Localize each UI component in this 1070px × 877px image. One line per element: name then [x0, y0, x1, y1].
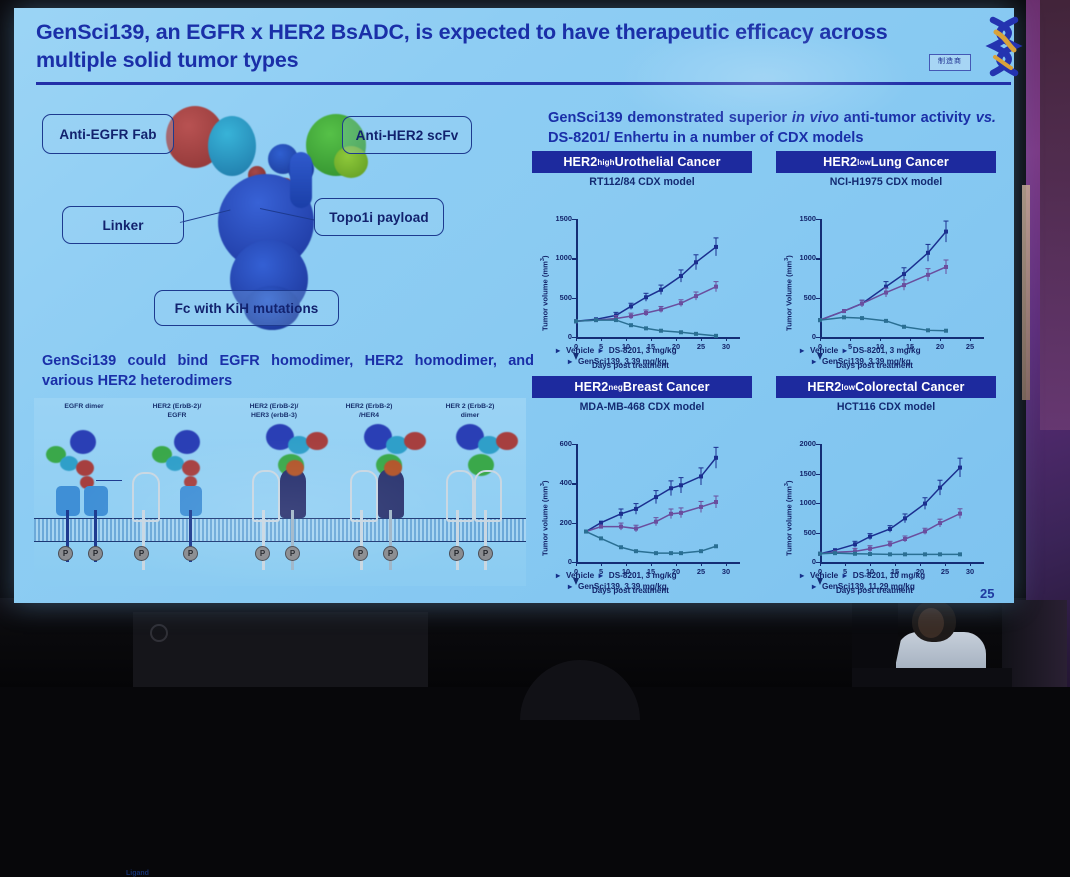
data-marker	[903, 516, 907, 520]
chart-legend-row1: ▸Vehicle ▸DS-8201, 3 mg/kg	[556, 570, 677, 580]
data-marker	[714, 456, 718, 460]
data-marker	[923, 502, 927, 506]
logo-badge-text: 制造商	[929, 54, 971, 71]
dimer-label-2: HER2 (ErbB-2)/HER3 (erbB-3)	[226, 402, 322, 420]
data-marker	[669, 551, 673, 555]
callout-anti-egfr-fab[interactable]: Anti-EGFR Fab	[42, 114, 174, 154]
data-marker	[714, 334, 718, 338]
data-marker	[818, 552, 822, 556]
chart-title-2: HER2neg Breast Cancer	[532, 376, 752, 398]
chart-legend-row2: ▸GenSci139, 3.39 mg/kg	[812, 356, 911, 366]
data-marker	[644, 326, 648, 330]
data-marker	[923, 552, 927, 556]
data-marker	[842, 315, 846, 319]
data-marker	[699, 474, 703, 478]
data-marker	[679, 301, 683, 305]
data-marker	[619, 512, 623, 516]
data-marker	[902, 325, 906, 329]
data-marker	[958, 552, 962, 556]
data-marker	[614, 318, 618, 322]
chart-series-svg	[776, 189, 996, 364]
series-line-0	[586, 458, 716, 532]
slide-title: GenSci139, an EGFR x HER2 BsADC, is expe…	[36, 18, 916, 75]
chart-subtitle-1: NCI-H1975 CDX model	[776, 176, 996, 188]
legend-marker-2: ▸	[812, 356, 822, 366]
data-marker	[853, 542, 857, 546]
data-marker	[634, 507, 638, 511]
chart-card-urothelial[interactable]: HER2high Urothelial CancerRT112/84 CDX m…	[532, 151, 752, 376]
data-marker	[669, 512, 673, 516]
chart-title-3: HER2low Colorectal Cancer	[776, 376, 996, 398]
chart-title-superscript: neg	[608, 383, 623, 392]
stage-panel-dial-icon	[150, 624, 168, 642]
legend-label-2: GenSci139, 3.39 mg/kg	[578, 582, 667, 591]
data-marker	[634, 527, 638, 531]
chart-title-superscript: low	[841, 383, 855, 392]
legend-label-2: GenSci139, 3.39 mg/kg	[578, 357, 667, 366]
chart-title-0: HER2high Urothelial Cancer	[532, 151, 752, 173]
chart-plot-3: 0500100015002000Tumor volume (mm3)051015…	[776, 414, 996, 589]
data-marker	[868, 552, 872, 556]
data-marker	[714, 500, 718, 504]
data-marker	[818, 318, 822, 322]
dna-helix-logo-icon	[984, 16, 1024, 78]
data-marker	[888, 527, 892, 531]
data-marker	[679, 551, 683, 555]
data-marker	[938, 486, 942, 490]
data-marker	[958, 512, 962, 516]
legend-label-1: DS-8201, 3 mg/kg	[609, 346, 677, 355]
legend-marker-0: ▸	[800, 345, 810, 355]
series-line-2	[586, 532, 716, 554]
legend-marker-1: ▸	[599, 345, 609, 355]
binding-heading: GenSci139 could bind EGFR homodimer, HER…	[42, 352, 534, 391]
legend-marker-1: ▸	[843, 570, 853, 580]
chart-card-lung[interactable]: HER2low Lung CancerNCI-H1975 CDX model05…	[776, 151, 996, 376]
dimer-label-4: HER 2 (ErbB-2)dimer	[422, 402, 518, 420]
data-marker	[679, 511, 683, 515]
legend-marker-1: ▸	[599, 570, 609, 580]
data-marker	[884, 291, 888, 295]
chart-title-superscript: high	[597, 158, 614, 167]
legend-marker-2: ▸	[812, 581, 822, 591]
data-marker	[868, 547, 872, 551]
dimer-label-0: EGFR dimer	[36, 402, 132, 411]
callout-topo1i-payload[interactable]: Topo1i payload	[314, 198, 444, 236]
data-marker	[884, 319, 888, 323]
data-marker	[644, 311, 648, 315]
chart-title-text: HER2	[574, 380, 608, 394]
chart-series-svg	[776, 414, 996, 589]
data-marker	[958, 466, 962, 470]
legend-label-1: DS-8201, 3 mg/kg	[609, 571, 677, 580]
chart-title-1: HER2low Lung Cancer	[776, 151, 996, 173]
data-marker	[833, 551, 837, 555]
data-marker	[679, 483, 683, 487]
data-marker	[842, 309, 846, 313]
data-marker	[860, 316, 864, 320]
legend-label-2: GenSci139, 3.39 mg/kg	[822, 357, 911, 366]
chart-title-text: HER2	[563, 155, 597, 169]
data-marker	[694, 260, 698, 264]
chart-title-superscript: low	[857, 158, 871, 167]
chart-subtitle-3: HCT116 CDX model	[776, 401, 996, 413]
data-marker	[629, 304, 633, 308]
data-marker	[574, 319, 578, 323]
data-marker	[629, 314, 633, 318]
data-marker	[938, 521, 942, 525]
legend-label-1: DS-8201, 10 mg/kg	[853, 571, 925, 580]
data-marker	[619, 525, 623, 529]
dimer-label-1: HER2 (ErbB-2)/EGFR	[129, 402, 225, 420]
chart-legend-row2: ▸GenSci139, 11.29 mg/kg	[812, 581, 915, 591]
data-marker	[644, 295, 648, 299]
legend-label-0: Vehicle	[810, 346, 838, 355]
receptor-dimer-diagram: EGFR dimer HER2 (ErbB-2)/EGFR HER2 (ErbB…	[34, 398, 526, 586]
data-marker	[669, 486, 673, 490]
callout-linker[interactable]: Linker	[62, 206, 184, 244]
chart-legend-row1: ▸Vehicle ▸DS-8201, 10 mg/kg	[800, 570, 925, 580]
data-marker	[679, 274, 683, 278]
legend-marker-2: ▸	[568, 356, 578, 366]
ligand-leader-line	[96, 480, 122, 481]
data-marker	[944, 265, 948, 269]
data-marker	[599, 536, 603, 540]
title-underline	[36, 82, 1011, 85]
data-marker	[659, 307, 663, 311]
data-marker	[902, 272, 906, 276]
data-marker	[888, 552, 892, 556]
legend-marker-1: ▸	[843, 345, 853, 355]
data-marker	[926, 328, 930, 332]
data-marker	[903, 537, 907, 541]
legend-label-0: Vehicle	[566, 571, 594, 580]
ligand-label: Ligand	[126, 870, 149, 877]
legend-marker-2: ▸	[568, 581, 578, 591]
data-marker	[599, 525, 603, 529]
data-marker	[923, 529, 927, 533]
data-marker	[714, 285, 718, 289]
chart-series-svg	[532, 189, 752, 364]
data-marker	[694, 294, 698, 298]
data-marker	[944, 230, 948, 234]
right-wall-upper-panel	[1040, 0, 1070, 430]
stage-panel	[133, 612, 428, 687]
data-marker	[714, 544, 718, 548]
chart-legend-row1: ▸Vehicle ▸DS-8201, 3 mg/kg	[556, 345, 677, 355]
data-marker	[654, 551, 658, 555]
callout-anti-her2-scfv[interactable]: Anti-HER2 scFv	[342, 116, 472, 154]
chart-legend-row2: ▸GenSci139, 3.39 mg/kg	[568, 356, 667, 366]
speaker-face	[918, 608, 944, 638]
data-marker	[699, 549, 703, 553]
data-marker	[594, 318, 598, 322]
callout-fc-kih[interactable]: Fc with KiH mutations	[154, 290, 339, 326]
data-marker	[584, 530, 588, 534]
legend-label-0: Vehicle	[566, 346, 594, 355]
speaker-at-podium	[852, 600, 1067, 687]
chart-card-colorectal[interactable]: HER2low Colorectal CancerHCT116 CDX mode…	[776, 376, 996, 598]
podium	[852, 668, 1012, 687]
chart-plot-2: 0200400600Tumor volume (mm3)051015202530…	[532, 414, 752, 589]
data-marker	[679, 330, 683, 334]
chart-subtitle-2: MDA-MB-468 CDX model	[532, 401, 752, 413]
data-marker	[634, 549, 638, 553]
data-marker	[659, 329, 663, 333]
data-marker	[694, 332, 698, 336]
chart-subtitle-0: RT112/84 CDX model	[532, 176, 752, 188]
data-marker	[902, 283, 906, 287]
data-marker	[654, 520, 658, 524]
legend-marker-0: ▸	[556, 345, 566, 355]
series-line-1	[586, 502, 716, 532]
legend-label-2: GenSci139, 11.29 mg/kg	[822, 582, 915, 591]
data-marker	[903, 552, 907, 556]
chart-series-svg	[532, 414, 752, 589]
data-marker	[714, 245, 718, 249]
chart-plot-1: 050010001500Tumor Volume (mm3)0510152025…	[776, 189, 996, 364]
legend-label-0: Vehicle	[810, 571, 838, 580]
data-marker	[944, 329, 948, 333]
data-marker	[599, 521, 603, 525]
data-marker	[629, 323, 633, 327]
data-marker	[654, 495, 658, 499]
legend-marker-0: ▸	[800, 570, 810, 580]
data-marker	[868, 535, 872, 539]
chart-card-breast[interactable]: HER2neg Breast CancerMDA-MB-468 CDX mode…	[532, 376, 752, 598]
page-number: 25	[980, 586, 994, 601]
dimer-label-3: HER2 (ErbB-2)/HER4	[321, 402, 417, 420]
data-marker	[926, 273, 930, 277]
data-marker	[619, 545, 623, 549]
right-column-heading: GenSci139 demonstrated superior in vivo …	[548, 108, 996, 149]
chart-legend-row1: ▸Vehicle ▸DS-8201, 3 mg/kg	[800, 345, 921, 355]
data-marker	[659, 288, 663, 292]
chart-legend-row2: ▸GenSci139, 3.39 mg/kg	[568, 581, 667, 591]
data-marker	[888, 542, 892, 546]
data-marker	[853, 552, 857, 556]
data-marker	[699, 505, 703, 509]
legend-marker-0: ▸	[556, 570, 566, 580]
chart-title-text: HER2	[807, 380, 841, 394]
projected-slide: GenSci139, an EGFR x HER2 BsADC, is expe…	[14, 8, 1014, 603]
wall-light-strip	[1022, 185, 1030, 400]
legend-label-1: DS-8201, 3 mg/kg	[853, 346, 921, 355]
data-marker	[938, 552, 942, 556]
data-marker	[926, 251, 930, 255]
chart-plot-0: 050010001500Tumor volume (mm3)0510152025…	[532, 189, 752, 364]
data-marker	[860, 302, 864, 306]
chart-title-text: HER2	[823, 155, 857, 169]
